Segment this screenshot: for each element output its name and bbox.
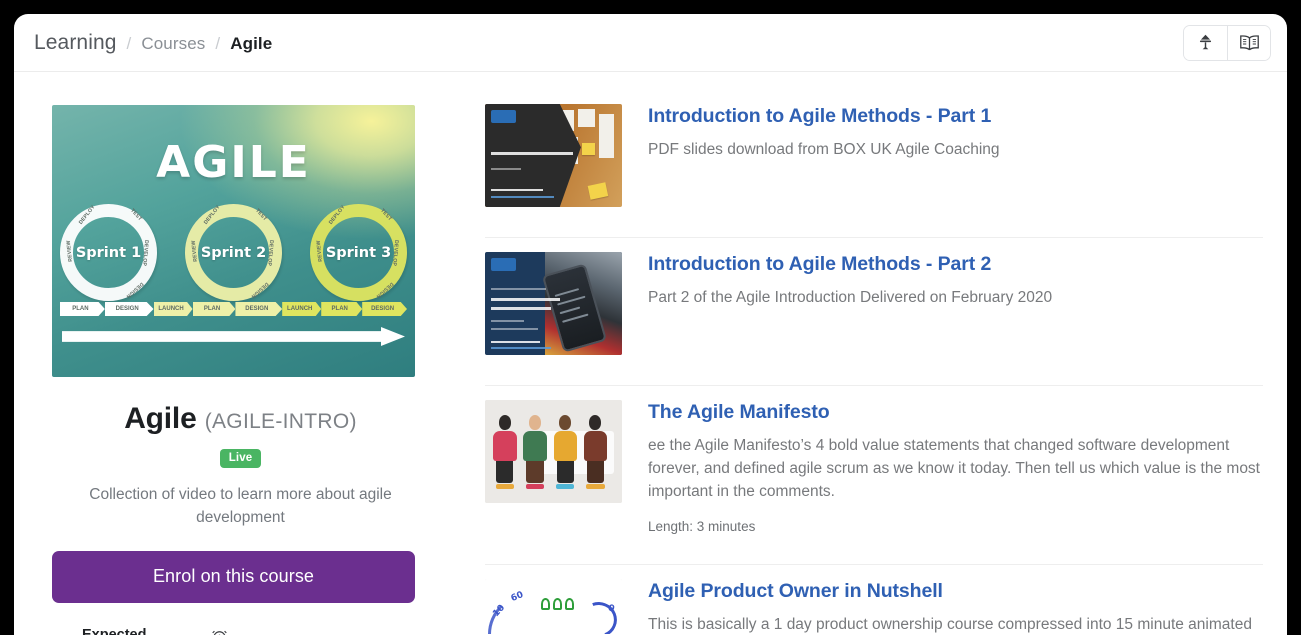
paper-sheet bbox=[599, 114, 614, 157]
flow-tag: LAUNCH bbox=[282, 302, 321, 316]
item-length: Length: 3 minutes bbox=[648, 519, 1263, 534]
course-hero-image: AGILE DEPLOY TEST DEVELOP DESIGN REVIEW … bbox=[52, 105, 415, 377]
course-title: Agile (AGILE-INTRO) bbox=[52, 402, 429, 436]
flow-tag: DESIGN bbox=[362, 302, 407, 316]
hero-timeline-arrow bbox=[62, 327, 405, 346]
sprint-cycle: DEPLOY TEST DEVELOP DESIGN REVIEW Sprint… bbox=[60, 204, 157, 301]
course-status-row: Live bbox=[52, 448, 429, 468]
breadcrumb: Learning / Courses / Agile bbox=[34, 31, 272, 55]
teach-button[interactable] bbox=[1184, 26, 1227, 60]
sprint-label: Sprint 1 bbox=[76, 245, 141, 261]
course-code: (AGILE-INTRO) bbox=[205, 410, 357, 433]
person-figure bbox=[584, 415, 607, 489]
item-title[interactable]: Agile Product Owner in Nutshell bbox=[648, 580, 1263, 604]
flow-tag: DESIGN bbox=[105, 302, 154, 316]
course-content-list: Introduction to Agile Methods - Part 1 P… bbox=[429, 72, 1287, 634]
item-description: ee the Agile Manifesto’s 4 bold value st… bbox=[648, 434, 1263, 503]
person-figure bbox=[523, 415, 546, 489]
course-title-text: Agile bbox=[124, 402, 196, 435]
course-description: Collection of video to learn more about … bbox=[52, 484, 429, 530]
slide-eyebrow-line bbox=[491, 288, 546, 290]
sprint-label: Sprint 3 bbox=[326, 245, 391, 261]
hero-sprint-cycles: DEPLOY TEST DEVELOP DESIGN REVIEW Sprint… bbox=[60, 200, 407, 305]
course-sidebar: AGILE DEPLOY TEST DEVELOP DESIGN REVIEW … bbox=[14, 72, 429, 635]
breadcrumb-item-learning[interactable]: Learning bbox=[34, 31, 117, 55]
page-body: AGILE DEPLOY TEST DEVELOP DESIGN REVIEW … bbox=[14, 72, 1287, 634]
slide-footer-line bbox=[491, 347, 551, 349]
book-icon bbox=[1239, 33, 1260, 52]
item-title[interactable]: Introduction to Agile Methods - Part 2 bbox=[648, 253, 1263, 277]
slide-footer-line bbox=[491, 196, 554, 198]
paper-sheet bbox=[578, 109, 594, 127]
slide-title-line bbox=[491, 152, 573, 155]
flow-tag: PLAN bbox=[321, 302, 362, 316]
person-figure bbox=[554, 415, 577, 489]
expected-duration-label: Expected duration bbox=[82, 625, 166, 635]
box-logo bbox=[491, 110, 516, 123]
flow-tag: PLAN bbox=[193, 302, 236, 316]
flow-tag: DESIGN bbox=[235, 302, 282, 316]
item-title[interactable]: Introduction to Agile Methods - Part 1 bbox=[648, 105, 1263, 129]
hero-flow-tags: PLAN DESIGN LAUNCH PLAN DESIGN LAUNCH PL… bbox=[60, 301, 407, 317]
flow-tag: LAUNCH bbox=[154, 302, 193, 316]
whiteboard-sketch-thumbnail[interactable]: 10 60 0 bbox=[485, 579, 622, 634]
expected-duration-row: Expected duration bbox=[52, 625, 429, 635]
item-text: The Agile Manifesto ee the Agile Manifes… bbox=[648, 400, 1263, 534]
sketch-people bbox=[541, 598, 574, 610]
item-text: Introduction to Agile Methods - Part 1 P… bbox=[648, 104, 1263, 207]
list-item[interactable]: The Agile Manifesto ee the Agile Manifes… bbox=[485, 386, 1263, 565]
sprint-cycle: DEPLOY TEST DEVELOP DESIGN REVIEW Sprint… bbox=[310, 204, 407, 301]
flow-tag: PLAN bbox=[60, 302, 105, 316]
slide-title-line bbox=[491, 307, 551, 310]
content-items: Introduction to Agile Methods - Part 1 P… bbox=[485, 100, 1263, 634]
video-slide-thumbnail[interactable] bbox=[485, 252, 622, 355]
list-item[interactable]: Introduction to Agile Methods - Part 2 P… bbox=[485, 238, 1263, 386]
hero-title-text: AGILE bbox=[52, 137, 415, 188]
catalogue-button[interactable] bbox=[1227, 26, 1270, 60]
slide-footer-line bbox=[491, 189, 543, 191]
slide-title-line bbox=[491, 298, 560, 301]
status-badge: Live bbox=[220, 449, 261, 468]
breadcrumb-separator: / bbox=[127, 34, 132, 54]
people-illustration-thumbnail[interactable] bbox=[485, 400, 622, 503]
person-figure bbox=[493, 415, 516, 489]
item-description: This is basically a 1 day product owners… bbox=[648, 613, 1263, 634]
box-logo bbox=[491, 258, 516, 271]
slide-sub-line bbox=[491, 168, 521, 170]
item-text: Introduction to Agile Methods - Part 2 P… bbox=[648, 252, 1263, 355]
item-title[interactable]: The Agile Manifesto bbox=[648, 401, 1263, 425]
list-item[interactable]: 10 60 0 Agile Product Owner in Nutshell bbox=[485, 565, 1263, 634]
item-text: Agile Product Owner in Nutshell This is … bbox=[648, 579, 1263, 634]
breadcrumb-item-courses[interactable]: Courses bbox=[141, 34, 205, 54]
page-header: Learning / Courses / Agile bbox=[14, 14, 1287, 72]
sprint-label: Sprint 2 bbox=[201, 245, 266, 261]
app-window: Learning / Courses / Agile bbox=[14, 14, 1287, 635]
breadcrumb-separator: / bbox=[215, 34, 220, 54]
slide-footer-line bbox=[491, 341, 540, 343]
sticky-note bbox=[582, 143, 594, 155]
sprint-cycle: DEPLOY TEST DEVELOP DESIGN REVIEW Sprint… bbox=[185, 204, 282, 301]
alarm-clock-icon bbox=[210, 625, 229, 635]
item-description: Part 2 of the Agile Introduction Deliver… bbox=[648, 286, 1263, 309]
list-item[interactable]: Introduction to Agile Methods - Part 1 P… bbox=[485, 100, 1263, 238]
item-description: PDF slides download from BOX UK Agile Co… bbox=[648, 138, 1263, 161]
lectern-icon bbox=[1196, 33, 1215, 52]
slide-sub-line bbox=[491, 320, 524, 322]
slide-sub-line bbox=[491, 328, 538, 330]
enrol-button[interactable]: Enrol on this course bbox=[52, 551, 415, 603]
pdf-slide-thumbnail[interactable] bbox=[485, 104, 622, 207]
breadcrumb-item-current: Agile bbox=[230, 34, 272, 54]
header-action-group bbox=[1183, 25, 1271, 61]
